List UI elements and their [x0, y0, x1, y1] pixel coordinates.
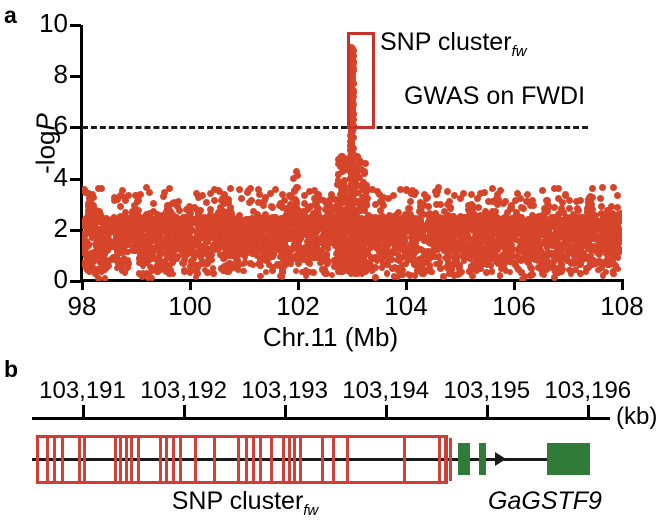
- kb-tick-2: [284, 405, 287, 418]
- y-tick-label-2: 2: [0, 215, 68, 241]
- kb-tick-4: [486, 405, 489, 418]
- x-tick-label-106: 106: [474, 293, 554, 319]
- y-tick-8: [70, 75, 81, 78]
- snp-cluster-subscript: fw: [512, 43, 527, 60]
- x-tick-label-100: 100: [150, 293, 230, 319]
- y-tick-label-0: 0: [0, 266, 68, 292]
- kb-tick-5: [587, 405, 590, 418]
- panel-b-label: b: [4, 358, 18, 381]
- panel-b-gene-model: b 103,191103,192103,193103,194103,195103…: [0, 355, 661, 521]
- snp-tick-31: [449, 438, 452, 481]
- kb-tick-0: [82, 405, 85, 418]
- kb-unit-label: (kb): [616, 403, 657, 431]
- exon-3: [547, 443, 590, 475]
- snp-cluster-label-subscript: fw: [303, 502, 318, 519]
- x-tick-label-108: 108: [582, 293, 661, 319]
- snp-cluster-annotation-text: SNP cluster: [380, 28, 512, 56]
- x-tick-label-98: 98: [42, 293, 122, 319]
- exon-2: [479, 443, 486, 475]
- gene-name-label: GaGSTF9: [455, 487, 635, 516]
- panel-a-manhattan-plot: a -logP 1086420 98100102104106108 SNP cl…: [0, 0, 661, 355]
- significance-threshold-line: [82, 126, 588, 129]
- snp-cluster-highlight-box: [347, 32, 375, 129]
- y-tick-2: [70, 229, 81, 232]
- snp-cluster-label: SNP clusterfw: [35, 487, 455, 519]
- y-tick-4: [70, 178, 81, 181]
- y-tick-label-10: 10: [0, 10, 68, 36]
- kb-tick-1: [183, 405, 186, 418]
- y-tick-0: [70, 280, 81, 283]
- strand-arrow-icon: [495, 452, 506, 466]
- x-tick-label-102: 102: [258, 293, 338, 319]
- exon-1: [458, 443, 470, 475]
- y-tick-6: [70, 126, 81, 129]
- snp-cluster-label-text: SNP cluster: [172, 487, 304, 515]
- kb-tick-label-5: 103,196: [528, 377, 648, 405]
- kb-tick-3: [385, 405, 388, 418]
- x-tick-label-104: 104: [366, 293, 446, 319]
- snp-cluster-annotation: SNP clusterfw: [380, 28, 527, 60]
- y-tick-label-8: 8: [0, 61, 68, 87]
- y-tick-10: [70, 24, 81, 27]
- y-tick-label-6: 6: [0, 112, 68, 138]
- gwas-annotation: GWAS on FWDI: [404, 82, 585, 111]
- y-tick-label-4: 4: [0, 164, 68, 190]
- x-axis-title: Chr.11 (Mb): [0, 322, 661, 353]
- kb-axis-line: [32, 417, 610, 420]
- snp-cluster-box: [36, 435, 448, 484]
